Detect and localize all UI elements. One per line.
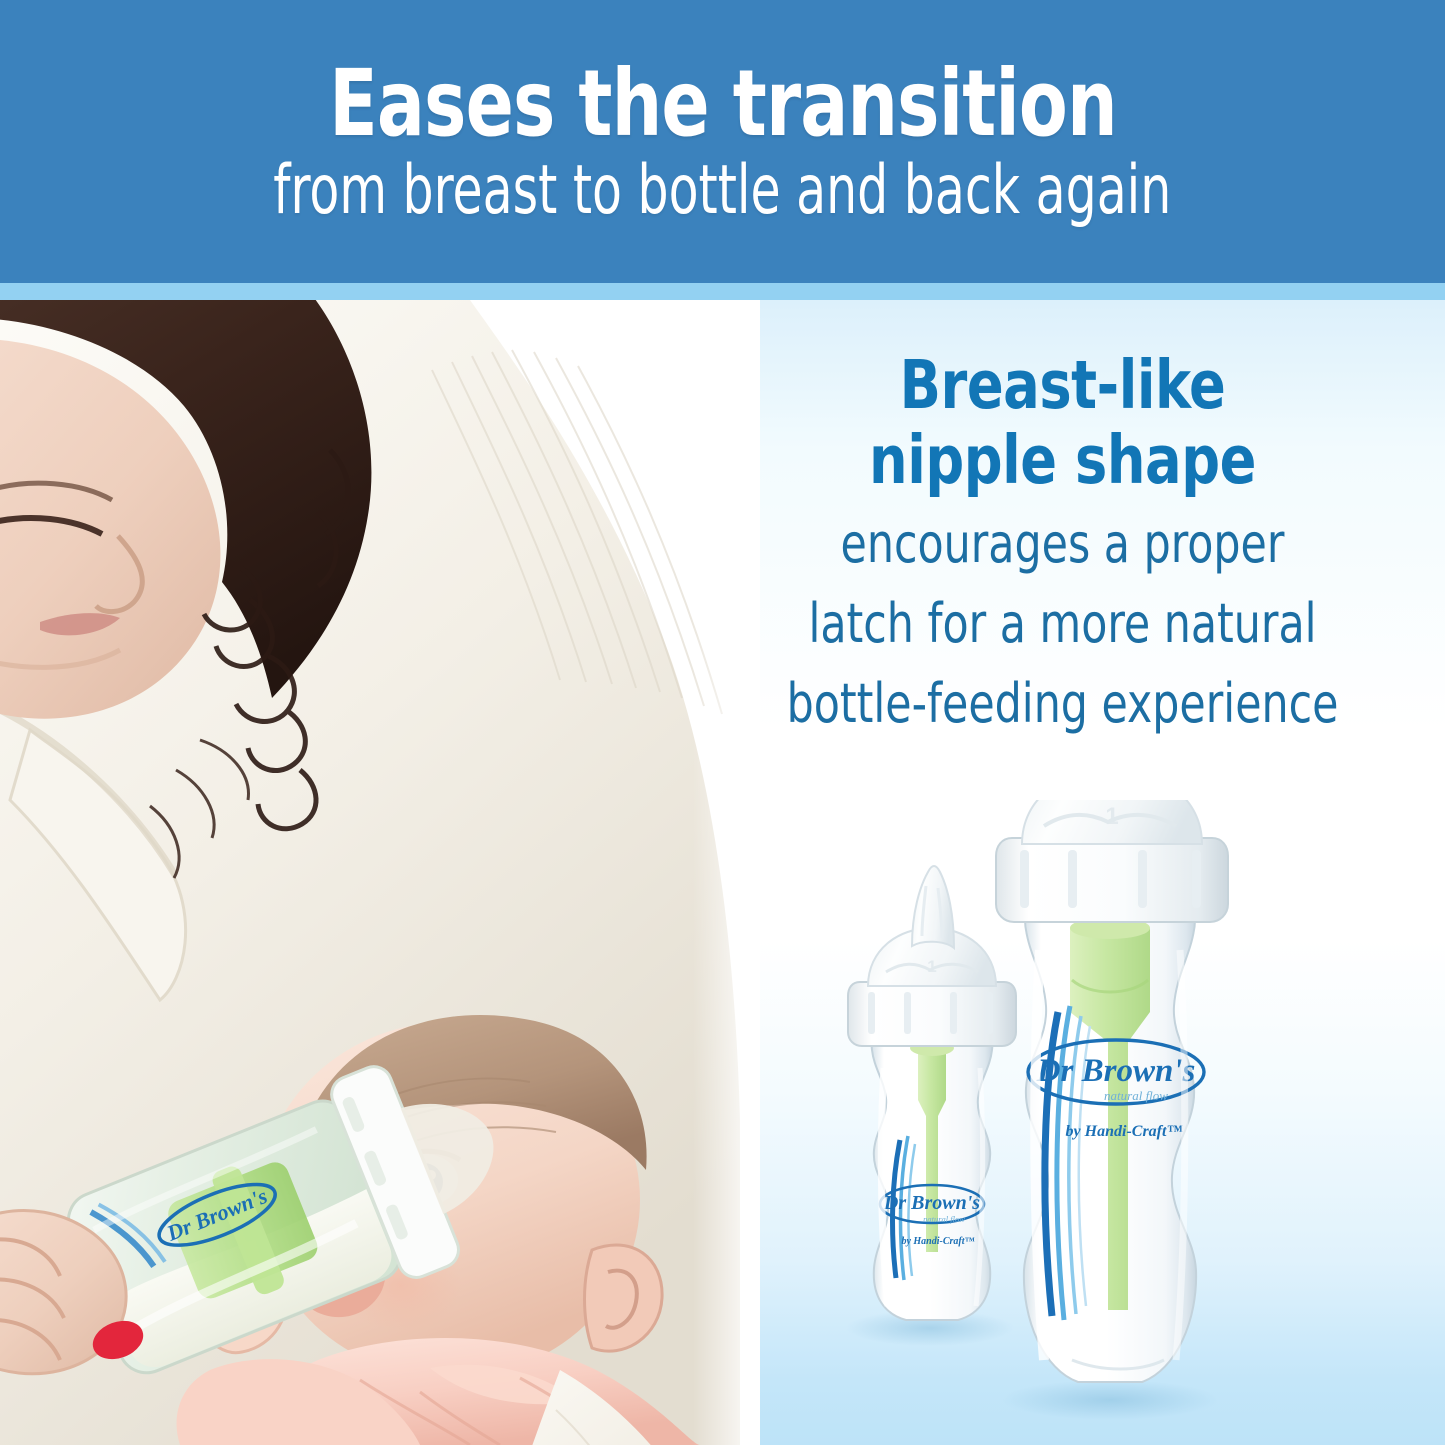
feature-body-line-1: encourages a proper <box>748 510 1377 578</box>
large-bottle-brand-text: Dr Brown's <box>1036 1053 1196 1089</box>
small-bottle-tagline: natural flow <box>923 1214 965 1224</box>
feature-body-line-2: latch for a more natural <box>748 590 1377 658</box>
product-bottle-pair: Dr Brown's natural flow by Handi-Craft™ <box>820 800 1250 1420</box>
small-bottle-maker: by Handi-Craft™ <box>901 1236 974 1247</box>
small-wide-neck-bottle: Dr Brown's natural flow by Handi-Craft™ <box>846 866 1016 1346</box>
large-bottle-maker: by Handi-Craft™ <box>1066 1123 1184 1140</box>
feature-heading-line-1: Breast-like <box>741 348 1385 423</box>
large-wide-neck-bottle: Dr Brown's natural flow by Handi-Craft™ <box>996 800 1228 1420</box>
product-feature-poster: Eases the transition from breast to bott… <box>0 0 1445 1445</box>
main-stage: Dr Brown's <box>0 300 1445 1445</box>
feature-copy: Breast-like nipple shape encourages a pr… <box>705 348 1420 738</box>
header-accent-stripe <box>0 283 1445 300</box>
header-title: Eases the transition <box>329 57 1117 151</box>
header-subtitle: from breast to bottle and back again <box>273 155 1171 226</box>
mother-and-baby-photo: Dr Brown's <box>0 300 760 1445</box>
feature-heading-line-2: nipple shape <box>741 423 1385 498</box>
large-bottle-shadow <box>1002 1380 1218 1420</box>
small-bottle-brand-text: Dr Brown's <box>883 1192 980 1214</box>
large-bottle-tagline: natural flow <box>1104 1088 1168 1103</box>
header-banner: Eases the transition from breast to bott… <box>0 0 1445 283</box>
feature-body-line-3: bottle-feeding experience <box>748 670 1377 738</box>
small-bottle-nipple-teat <box>912 866 954 948</box>
